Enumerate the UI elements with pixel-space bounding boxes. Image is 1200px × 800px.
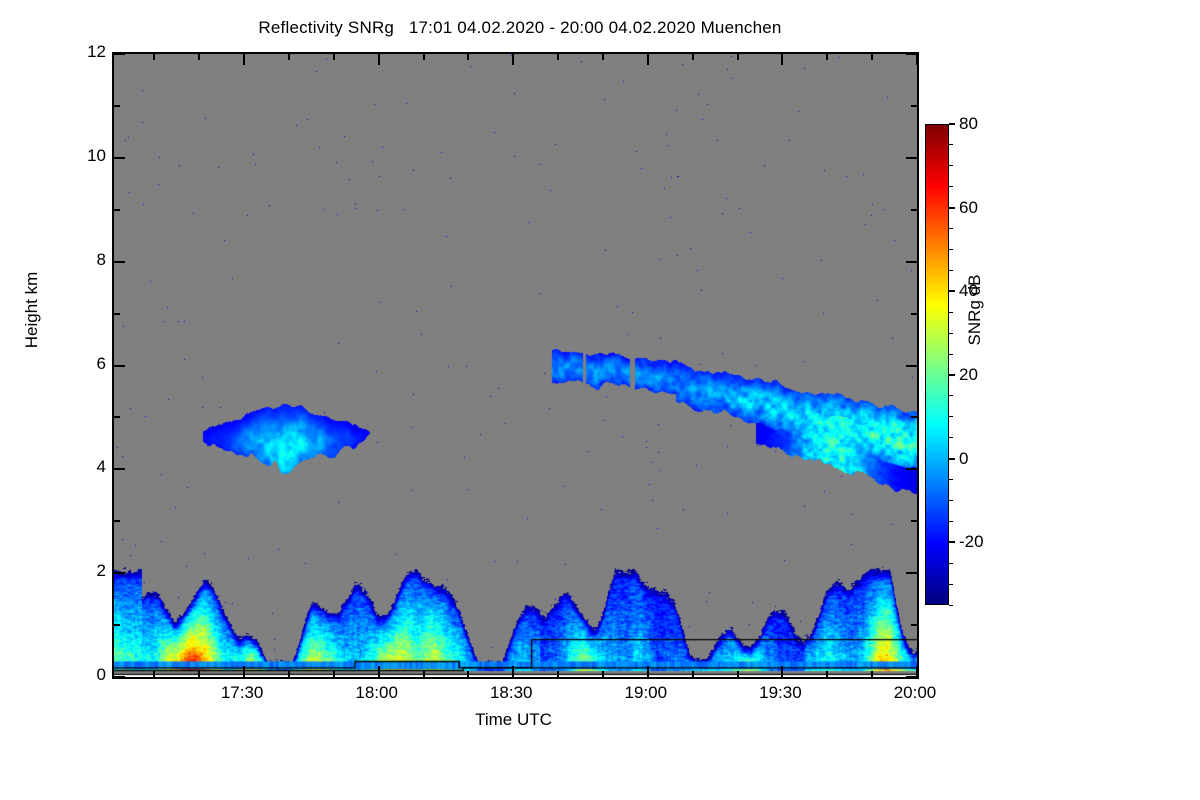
x-tick-minor-top xyxy=(826,54,828,60)
x-tick-major-top xyxy=(781,54,783,65)
x-tick-minor-top xyxy=(153,54,155,60)
x-tick-minor xyxy=(467,671,469,677)
y-tick-major-right xyxy=(906,572,917,574)
x-tick-minor xyxy=(288,671,290,677)
heatmap-plot-area[interactable] xyxy=(112,52,919,679)
x-tick-minor xyxy=(871,671,873,677)
y-tick-major-right xyxy=(906,365,917,367)
y-tick-label: 0 xyxy=(60,665,106,685)
colorbar-tick-minor xyxy=(949,437,953,438)
x-tick-minor-top xyxy=(467,54,469,60)
y-tick-label: 8 xyxy=(60,250,106,270)
x-tick-major xyxy=(781,666,783,677)
colorbar-tick xyxy=(949,541,955,543)
x-tick-label: 19:30 xyxy=(730,683,830,703)
colorbar-tick-label: 60 xyxy=(959,198,978,218)
y-tick-major xyxy=(114,157,125,159)
y-tick-minor-right xyxy=(911,520,917,522)
y-tick-major-right xyxy=(906,261,917,263)
x-tick-minor xyxy=(557,671,559,677)
colorbar-tick-minor xyxy=(949,165,953,166)
x-tick-minor xyxy=(602,671,604,677)
y-tick-major xyxy=(114,53,125,55)
x-tick-minor-top xyxy=(333,54,335,60)
colorbar-title: SNRg dB xyxy=(965,230,985,390)
x-tick-major xyxy=(916,666,918,677)
y-tick-minor-right xyxy=(911,313,917,315)
colorbar-tick-minor xyxy=(949,333,953,334)
colorbar-tick-minor xyxy=(949,270,953,271)
y-tick-major xyxy=(114,572,125,574)
colorbar-tick xyxy=(949,458,955,460)
colorbar-tick-minor xyxy=(949,249,953,250)
y-tick-label: 6 xyxy=(60,354,106,374)
x-tick-major-top xyxy=(916,54,918,65)
x-tick-minor-top xyxy=(737,54,739,60)
colorbar-gradient xyxy=(925,124,949,605)
colorbar-tick-label: -20 xyxy=(959,532,984,552)
x-tick-major xyxy=(243,666,245,677)
y-tick-label: 4 xyxy=(60,457,106,477)
colorbar-tick-minor xyxy=(949,228,953,229)
x-tick-minor-top xyxy=(288,54,290,60)
colorbar[interactable]: 806040200-20 xyxy=(925,124,949,605)
colorbar-tick-label: 80 xyxy=(959,114,978,134)
colorbar-tick-label: 0 xyxy=(959,449,968,469)
x-tick-major-top xyxy=(512,54,514,65)
colorbar-tick-minor xyxy=(949,563,953,564)
y-tick-minor xyxy=(114,416,120,418)
y-tick-minor-right xyxy=(911,209,917,211)
reflectivity-heatmap-canvas[interactable] xyxy=(114,54,917,677)
x-tick-minor-top xyxy=(198,54,200,60)
colorbar-tick-minor xyxy=(949,521,953,522)
colorbar-tick xyxy=(949,290,955,292)
x-tick-major xyxy=(378,666,380,677)
colorbar-tick-minor xyxy=(949,144,953,145)
colorbar-tick xyxy=(949,123,955,125)
y-tick-label: 2 xyxy=(60,561,106,581)
y-tick-minor-right xyxy=(911,624,917,626)
y-tick-minor xyxy=(114,313,120,315)
x-tick-label: 20:00 xyxy=(865,683,965,703)
x-tick-minor-top xyxy=(602,54,604,60)
x-tick-minor-top xyxy=(692,54,694,60)
y-tick-label: 10 xyxy=(60,146,106,166)
y-tick-major-right xyxy=(906,157,917,159)
x-axis-title: Time UTC xyxy=(112,710,915,730)
y-tick-label: 12 xyxy=(60,42,106,62)
colorbar-tick xyxy=(949,207,955,209)
x-tick-label: 17:30 xyxy=(192,683,292,703)
x-tick-major-top xyxy=(378,54,380,65)
colorbar-tick-minor xyxy=(949,605,953,606)
x-tick-minor xyxy=(333,671,335,677)
x-tick-major-top xyxy=(647,54,649,65)
radar-reflectivity-figure: Reflectivity SNRg 17:01 04.02.2020 - 20:… xyxy=(0,0,1200,800)
y-axis-labels: 121086420 xyxy=(50,52,106,675)
y-tick-major-right xyxy=(906,468,917,470)
x-tick-minor xyxy=(153,671,155,677)
page-title: Reflectivity SNRg 17:01 04.02.2020 - 20:… xyxy=(0,18,1040,38)
colorbar-tick-minor xyxy=(949,186,953,187)
y-tick-major xyxy=(114,261,125,263)
x-tick-major xyxy=(512,666,514,677)
colorbar-tick xyxy=(949,374,955,376)
colorbar-tick-minor xyxy=(949,312,953,313)
x-tick-minor xyxy=(198,671,200,677)
y-tick-minor-right xyxy=(911,105,917,107)
x-tick-minor-top xyxy=(423,54,425,60)
colorbar-tick-minor xyxy=(949,479,953,480)
colorbar-tick-minor xyxy=(949,354,953,355)
y-axis-title: Height km xyxy=(22,245,42,375)
colorbar-tick-minor xyxy=(949,416,953,417)
x-tick-minor-top xyxy=(557,54,559,60)
x-tick-label: 18:00 xyxy=(327,683,427,703)
y-tick-minor-right xyxy=(911,416,917,418)
x-tick-label: 19:00 xyxy=(596,683,696,703)
y-tick-minor xyxy=(114,105,120,107)
x-tick-major xyxy=(647,666,649,677)
x-tick-minor xyxy=(692,671,694,677)
y-tick-minor xyxy=(114,520,120,522)
colorbar-tick-minor xyxy=(949,584,953,585)
x-tick-minor xyxy=(423,671,425,677)
y-tick-minor xyxy=(114,209,120,211)
x-tick-major-top xyxy=(243,54,245,65)
colorbar-tick-minor xyxy=(949,500,953,501)
x-tick-label: 18:30 xyxy=(461,683,561,703)
y-tick-major xyxy=(114,676,125,678)
colorbar-tick-minor xyxy=(949,395,953,396)
y-tick-major xyxy=(114,468,125,470)
x-tick-minor xyxy=(737,671,739,677)
x-tick-minor-top xyxy=(871,54,873,60)
y-tick-major xyxy=(114,365,125,367)
y-tick-minor xyxy=(114,624,120,626)
x-tick-minor xyxy=(826,671,828,677)
